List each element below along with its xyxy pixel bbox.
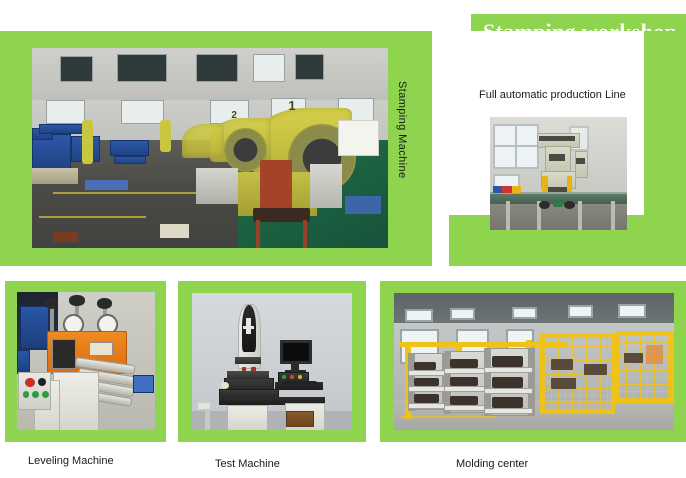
production-line-caption: Full automatic production Line (479, 89, 626, 101)
main-photo-panel: 1 2 Stamping Mach (0, 31, 432, 266)
caption-molding-center: Molding center (456, 458, 528, 470)
test-machine-photo-art (192, 293, 352, 430)
workshop-photo-art: 1 2 (32, 48, 388, 248)
caption-test-machine: Test Machine (215, 458, 280, 470)
molding-center-panel (380, 281, 686, 442)
stamping-machine-label: Stamping Machine (392, 81, 408, 211)
test-machine-photo (192, 293, 352, 430)
test-machine-panel (178, 281, 366, 442)
molding-center-photo-art (394, 293, 674, 430)
molding-center-photo (394, 293, 674, 430)
leveling-machine-panel (5, 281, 166, 442)
stamping-workshop-photo: 1 2 (32, 48, 388, 248)
slide-canvas: Stamping workshop (0, 0, 686, 478)
leveling-machine-photo (17, 292, 155, 430)
production-line-photo-art (490, 117, 627, 230)
caption-leveling-machine: Leveling Machine (28, 455, 114, 467)
production-line-photo (490, 117, 627, 230)
leveling-machine-photo-art (17, 292, 155, 430)
